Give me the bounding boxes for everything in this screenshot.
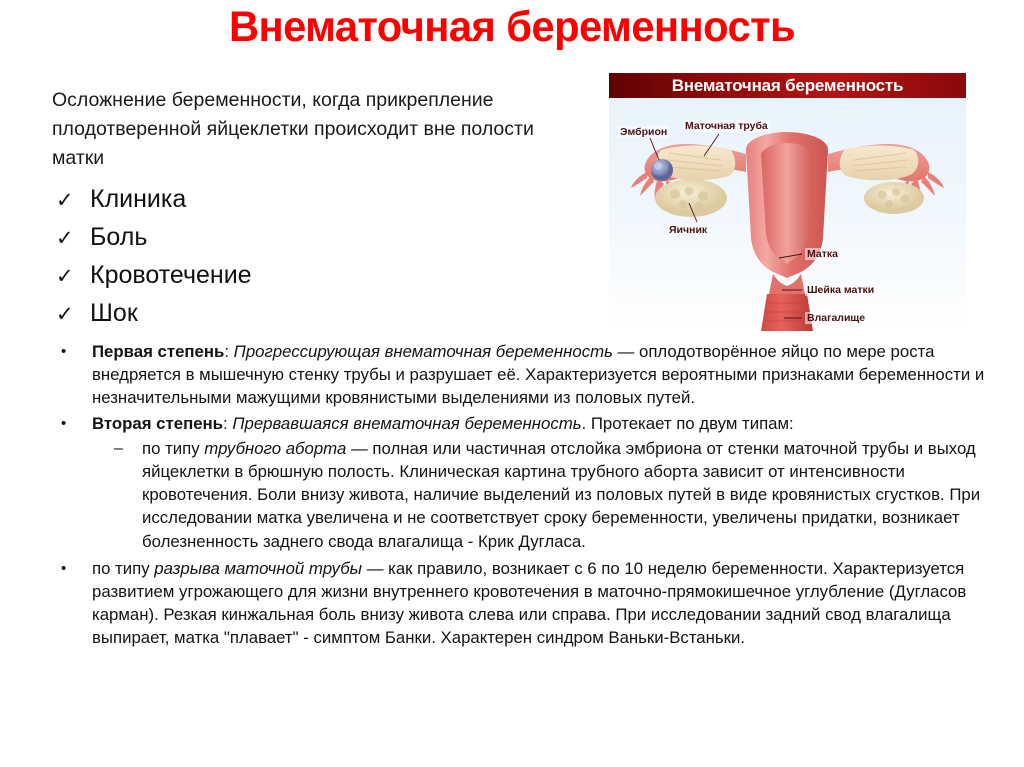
diagram-label-cervix: Шейка матки <box>805 284 876 296</box>
diagram-label-uterus: Матка <box>805 248 840 260</box>
list-item: ✓ Боль <box>56 218 576 256</box>
diagram-label-fallopian-tube: Маточная труба <box>683 120 770 132</box>
sub-bullet-tubal-abortion: – по типу трубного аборта — полная или ч… <box>52 437 1004 553</box>
list-item: ✓ Шок <box>56 294 576 332</box>
check-icon: ✓ <box>56 296 90 334</box>
bullet-marker: • <box>61 340 66 363</box>
bullet-colon: : <box>224 342 233 361</box>
diagram-label-ovary: Яичник <box>667 224 709 236</box>
list-item-label: Клиника <box>90 180 186 218</box>
symptom-checklist: ✓ Клиника ✓ Боль ✓ Кровотечение ✓ Шок <box>56 180 576 332</box>
bullet-body: . Протекает по двум типам: <box>582 414 794 433</box>
bullet-colon: : <box>223 414 232 433</box>
list-item-label: Шок <box>90 294 138 332</box>
list-item: ✓ Кровотечение <box>56 256 576 294</box>
sub-bullet-emphasis: трубного аборта <box>204 439 346 458</box>
bullet-second-degree: • Вторая степень: Прервавшаяся внематочн… <box>52 412 1004 435</box>
bullet-tube-rupture: • по типу разрыва маточной трубы — как п… <box>52 557 1004 650</box>
anatomy-diagram: Внематочная беременность <box>609 73 966 331</box>
body-content: • Первая степень: Прогрессирующая внемат… <box>52 340 1004 652</box>
embryo-marker <box>651 159 673 181</box>
diagram-header-title: Внематочная беременность <box>672 76 904 96</box>
diagram-header-bar: Внематочная беременность <box>609 73 966 98</box>
diagram-label-embryo: Эмбрион <box>618 126 669 138</box>
bullet-prefix: по типу <box>92 559 154 578</box>
bullet-first-degree: • Первая степень: Прогрессирующая внемат… <box>52 340 1004 410</box>
list-item-label: Кровотечение <box>90 256 252 294</box>
bullet-marker: • <box>61 557 66 580</box>
bullet-lead-label: Первая степень <box>92 342 224 361</box>
page-title: Внематочная беременность <box>15 4 1008 50</box>
intro-paragraph: Осложнение беременности, когда прикрепле… <box>52 86 552 173</box>
bullet-emphasis: Прогрессирующая внематочная беременность <box>234 342 613 361</box>
check-icon: ✓ <box>56 220 90 258</box>
sub-bullet-marker: – <box>114 437 123 460</box>
bullet-emphasis: разрыва маточной трубы <box>154 559 362 578</box>
diagram-label-vagina: Влагалище <box>805 312 867 324</box>
bullet-lead-label: Вторая степень <box>92 414 223 433</box>
check-icon: ✓ <box>56 258 90 296</box>
bullet-emphasis: Прервавшаяся внематочная беременность <box>232 414 581 433</box>
list-item-label: Боль <box>90 218 147 256</box>
diagram-illustration: Эмбрион Маточная труба Яичник Матка Шейк… <box>609 98 966 331</box>
bullet-marker: • <box>61 412 66 435</box>
check-icon: ✓ <box>56 182 90 220</box>
sub-bullet-prefix: по типу <box>142 439 204 458</box>
list-item: ✓ Клиника <box>56 180 576 218</box>
